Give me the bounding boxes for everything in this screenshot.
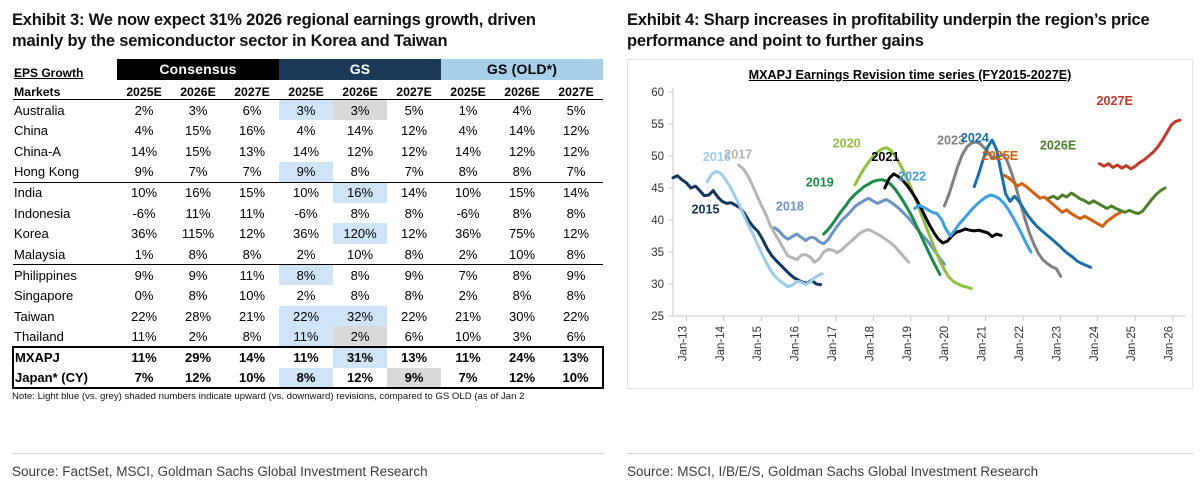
table-row: Malaysia1%8%8%2%10%8%2%10%8%: [13, 244, 603, 265]
table-row: India10%16%15%10%16%14%10%15%14%: [13, 182, 603, 203]
group-header-gs-old: GS (OLD*): [441, 59, 603, 80]
year-header-gs-2025e: 2025E: [279, 80, 333, 100]
row-market-label: Indonesia: [13, 203, 117, 224]
cell-gs_old-2025e: 36%: [441, 223, 495, 244]
row-market-label: Malaysia: [13, 244, 117, 265]
cell-gs_old-2027e: 8%: [549, 244, 603, 265]
cell-gs_old-2026e: 4%: [495, 100, 549, 121]
cell-consensus-2026e: 12%: [171, 368, 225, 389]
eps-growth-table: EPS GrowthConsensusGSGS (OLD*)Markets202…: [12, 59, 604, 389]
cell-consensus-2027e: 21%: [225, 306, 279, 327]
cell-consensus-2025e: 36%: [117, 223, 171, 244]
cell-consensus-2025e: 22%: [117, 306, 171, 327]
cell-gs-2026e: 12%: [333, 368, 387, 389]
cell-gs_old-2026e: 12%: [495, 141, 549, 162]
cell-consensus-2026e: 115%: [171, 223, 225, 244]
series-line-2025E: [1004, 175, 1120, 226]
earnings-revision-chart: MXAPJ Earnings Revision time series (FY2…: [627, 59, 1193, 389]
x-tick-label: Jan-26: [1164, 326, 1176, 361]
series-label-2027E: 2027E: [1097, 94, 1133, 108]
cell-gs_old-2026e: 8%: [495, 162, 549, 183]
cell-consensus-2025e: 2%: [117, 100, 171, 121]
table-group-header-row: EPS GrowthConsensusGSGS (OLD*): [13, 59, 603, 80]
y-tick-label: 60: [651, 87, 664, 99]
cell-consensus-2027e: 11%: [225, 265, 279, 286]
cell-consensus-2026e: 29%: [171, 347, 225, 368]
right-source-wrapper: Source: MSCI, I/B/E/S, Goldman Sachs Glo…: [627, 441, 1193, 479]
cell-gs-2025e: 22%: [279, 306, 333, 327]
cell-gs-2025e: 8%: [279, 265, 333, 286]
table-row: Korea36%115%12%36%120%12%36%75%12%: [13, 223, 603, 244]
cell-consensus-2027e: 6%: [225, 100, 279, 121]
cell-gs_old-2027e: 8%: [549, 203, 603, 224]
row-market-label: Japan* (CY): [13, 368, 117, 389]
cell-gs_old-2026e: 10%: [495, 244, 549, 265]
cell-gs-2025e: 3%: [279, 100, 333, 121]
cell-consensus-2027e: 10%: [225, 368, 279, 389]
cell-gs-2027e: 12%: [387, 141, 441, 162]
table-year-header-row: Markets2025E2026E2027E2025E2026E2027E202…: [13, 80, 603, 100]
series-line-2015: [673, 176, 821, 285]
exhibit-page: Exhibit 3: We now expect 31% 2026 region…: [0, 0, 1200, 493]
series-label-2026E: 2026E: [1040, 138, 1076, 152]
cell-gs-2026e: 8%: [333, 265, 387, 286]
table-row: Philippines9%9%11%8%8%9%7%8%9%: [13, 265, 603, 286]
year-header-gs_old-2025e: 2025E: [441, 80, 495, 100]
x-tick-label: Jan-25: [1126, 326, 1138, 361]
cell-gs-2026e: 14%: [333, 120, 387, 141]
table-row: Hong Kong9%7%7%9%8%7%8%8%7%: [13, 162, 603, 183]
cell-gs-2027e: 22%: [387, 306, 441, 327]
row-market-label: Singapore: [13, 285, 117, 306]
year-header-consensus-2025e: 2025E: [117, 80, 171, 100]
cell-consensus-2026e: 15%: [171, 120, 225, 141]
cell-consensus-2027e: 11%: [225, 203, 279, 224]
table-note: Note: Light blue (vs. grey) shaded numbe…: [12, 391, 612, 402]
cell-gs_old-2025e: 1%: [441, 100, 495, 121]
cell-gs_old-2027e: 12%: [549, 223, 603, 244]
cell-consensus-2026e: 11%: [171, 203, 225, 224]
cell-consensus-2025e: 14%: [117, 141, 171, 162]
cell-gs_old-2026e: 24%: [495, 347, 549, 368]
year-header-gs_old-2027e: 2027E: [549, 80, 603, 100]
cell-gs-2026e: 12%: [333, 141, 387, 162]
row-market-label: China: [13, 120, 117, 141]
cell-consensus-2027e: 15%: [225, 182, 279, 203]
cell-gs-2025e: -6%: [279, 203, 333, 224]
cell-gs_old-2026e: 8%: [495, 265, 549, 286]
y-tick-label: 50: [651, 151, 664, 163]
series-label-2025E: 2025E: [982, 149, 1018, 163]
cell-gs-2025e: 8%: [279, 368, 333, 389]
row-market-label: Thailand: [13, 326, 117, 347]
cell-consensus-2025e: 1%: [117, 244, 171, 265]
row-market-label: Hong Kong: [13, 162, 117, 183]
left-source-text: Source: FactSet, MSCI, Goldman Sachs Glo…: [12, 454, 604, 479]
row-market-label: Philippines: [13, 265, 117, 286]
exhibit-4-panel: Exhibit 4: Sharp increases in profitabil…: [615, 0, 1200, 493]
cell-gs-2025e: 11%: [279, 347, 333, 368]
cell-consensus-2025e: 0%: [117, 285, 171, 306]
cell-gs_old-2025e: 8%: [441, 162, 495, 183]
series-label-2015: 2015: [691, 202, 719, 216]
cell-gs_old-2027e: 10%: [549, 368, 603, 389]
row-market-label: MXAPJ: [13, 347, 117, 368]
year-header-gs_old-2026e: 2026E: [495, 80, 549, 100]
cell-consensus-2026e: 8%: [171, 285, 225, 306]
year-header-gs-2027e: 2027E: [387, 80, 441, 100]
markets-column-header: Markets: [13, 80, 117, 100]
cell-gs_old-2025e: 10%: [441, 182, 495, 203]
cell-gs_old-2025e: 14%: [441, 141, 495, 162]
cell-gs-2026e: 10%: [333, 244, 387, 265]
x-tick-label: Jan-16: [790, 326, 802, 361]
cell-gs_old-2027e: 12%: [549, 120, 603, 141]
cell-gs-2027e: 6%: [387, 326, 441, 347]
x-tick-label: Jan-22: [1014, 326, 1026, 361]
cell-gs_old-2026e: 8%: [495, 285, 549, 306]
cell-consensus-2026e: 15%: [171, 141, 225, 162]
cell-gs-2027e: 12%: [387, 223, 441, 244]
cell-gs-2027e: 8%: [387, 285, 441, 306]
table-row: Australia2%3%6%3%3%5%1%4%5%: [13, 100, 603, 121]
cell-consensus-2027e: 7%: [225, 162, 279, 183]
row-market-label: China-A: [13, 141, 117, 162]
cell-gs_old-2025e: 2%: [441, 244, 495, 265]
group-header-consensus: Consensus: [117, 59, 279, 80]
cell-consensus-2026e: 2%: [171, 326, 225, 347]
right-source-text: Source: MSCI, I/B/E/S, Goldman Sachs Glo…: [627, 454, 1193, 479]
year-header-gs-2026e: 2026E: [333, 80, 387, 100]
cell-consensus-2027e: 14%: [225, 347, 279, 368]
cell-gs-2027e: 12%: [387, 120, 441, 141]
cell-gs-2025e: 2%: [279, 285, 333, 306]
cell-gs-2025e: 11%: [279, 326, 333, 347]
cell-consensus-2025e: 9%: [117, 265, 171, 286]
cell-gs_old-2026e: 3%: [495, 326, 549, 347]
exhibit-3-title: Exhibit 3: We now expect 31% 2026 region…: [12, 10, 572, 53]
cell-gs-2026e: 3%: [333, 100, 387, 121]
cell-gs-2027e: 7%: [387, 162, 441, 183]
row-market-label: Taiwan: [13, 306, 117, 327]
x-tick-label: Jan-23: [1051, 326, 1063, 361]
cell-gs-2027e: 8%: [387, 203, 441, 224]
x-tick-label: Jan-15: [752, 326, 764, 361]
cell-consensus-2027e: 13%: [225, 141, 279, 162]
cell-gs_old-2025e: 7%: [441, 368, 495, 389]
series-line-2019: [824, 180, 940, 275]
cell-gs-2026e: 32%: [333, 306, 387, 327]
y-tick-label: 45: [651, 183, 664, 195]
cell-gs-2025e: 10%: [279, 182, 333, 203]
cell-gs-2027e: 8%: [387, 244, 441, 265]
cell-consensus-2026e: 7%: [171, 162, 225, 183]
table-total-row: MXAPJ11%29%14%11%31%13%11%24%13%: [13, 347, 603, 368]
x-tick-label: Jan-14: [715, 325, 727, 361]
cell-gs_old-2027e: 13%: [549, 347, 603, 368]
cell-gs_old-2025e: 21%: [441, 306, 495, 327]
cell-gs-2027e: 14%: [387, 182, 441, 203]
series-label-2019: 2019: [806, 176, 834, 190]
left-source-wrapper: Source: FactSet, MSCI, Goldman Sachs Glo…: [12, 441, 604, 479]
eps-growth-corner-label: EPS Growth: [13, 59, 117, 80]
cell-gs_old-2027e: 7%: [549, 162, 603, 183]
cell-gs_old-2027e: 9%: [549, 265, 603, 286]
cell-consensus-2025e: 11%: [117, 326, 171, 347]
cell-gs_old-2027e: 6%: [549, 326, 603, 347]
table-row: Indonesia-6%11%11%-6%8%8%-6%8%8%: [13, 203, 603, 224]
cell-gs-2027e: 9%: [387, 265, 441, 286]
row-market-label: Korea: [13, 223, 117, 244]
exhibit-3-panel: Exhibit 3: We now expect 31% 2026 region…: [0, 0, 615, 493]
x-tick-label: Jan-18: [864, 326, 876, 361]
cell-gs-2026e: 31%: [333, 347, 387, 368]
x-tick-label: Jan-24: [1089, 325, 1101, 361]
cell-gs_old-2026e: 14%: [495, 120, 549, 141]
table-row: China4%15%16%4%14%12%4%14%12%: [13, 120, 603, 141]
cell-gs-2025e: 36%: [279, 223, 333, 244]
cell-gs_old-2026e: 8%: [495, 203, 549, 224]
chart-canvas: 2530354045505560Jan-13Jan-14Jan-15Jan-16…: [628, 60, 1194, 390]
y-tick-label: 35: [651, 247, 664, 259]
cell-gs-2026e: 16%: [333, 182, 387, 203]
row-market-label: India: [13, 182, 117, 203]
x-tick-label: Jan-17: [827, 326, 839, 361]
cell-gs_old-2026e: 75%: [495, 223, 549, 244]
x-tick-label: Jan-21: [977, 326, 989, 361]
row-market-label: Australia: [13, 100, 117, 121]
table-row: China-A14%15%13%14%12%12%14%12%12%: [13, 141, 603, 162]
series-label-2022: 2022: [898, 169, 926, 183]
series-label-2018: 2018: [776, 199, 804, 213]
cell-gs-2026e: 8%: [333, 203, 387, 224]
x-tick-label: Jan-13: [677, 326, 689, 361]
cell-gs-2027e: 5%: [387, 100, 441, 121]
cell-gs-2025e: 4%: [279, 120, 333, 141]
series-line-2021: [885, 174, 1001, 243]
cell-gs-2025e: 2%: [279, 244, 333, 265]
cell-consensus-2027e: 8%: [225, 326, 279, 347]
cell-gs_old-2025e: 4%: [441, 120, 495, 141]
table-row: Taiwan22%28%21%22%32%22%21%30%22%: [13, 306, 603, 327]
series-label-2020: 2020: [833, 137, 861, 151]
cell-gs-2026e: 8%: [333, 162, 387, 183]
cell-gs_old-2025e: 2%: [441, 285, 495, 306]
cell-gs_old-2027e: 12%: [549, 141, 603, 162]
y-tick-label: 25: [651, 311, 664, 323]
cell-consensus-2027e: 10%: [225, 285, 279, 306]
cell-gs_old-2025e: -6%: [441, 203, 495, 224]
cell-gs_old-2025e: 11%: [441, 347, 495, 368]
cell-gs-2025e: 14%: [279, 141, 333, 162]
y-tick-label: 30: [651, 279, 664, 291]
cell-consensus-2026e: 9%: [171, 265, 225, 286]
cell-gs-2026e: 2%: [333, 326, 387, 347]
cell-consensus-2025e: -6%: [117, 203, 171, 224]
cell-consensus-2026e: 16%: [171, 182, 225, 203]
cell-consensus-2025e: 9%: [117, 162, 171, 183]
x-tick-label: Jan-19: [902, 326, 914, 361]
cell-consensus-2026e: 3%: [171, 100, 225, 121]
series-label-2021: 2021: [871, 150, 899, 164]
cell-gs_old-2027e: 22%: [549, 306, 603, 327]
cell-gs_old-2025e: 10%: [441, 326, 495, 347]
cell-consensus-2027e: 12%: [225, 223, 279, 244]
year-header-consensus-2026e: 2026E: [171, 80, 225, 100]
cell-gs-2025e: 9%: [279, 162, 333, 183]
cell-gs-2027e: 9%: [387, 368, 441, 389]
table-total-row: Japan* (CY)7%12%10%8%12%9%7%12%10%: [13, 368, 603, 389]
table-row: Thailand11%2%8%11%2%6%10%3%6%: [13, 326, 603, 347]
exhibit-4-title: Exhibit 4: Sharp increases in profitabil…: [627, 10, 1187, 53]
series-label-2024: 2024: [961, 131, 989, 145]
cell-gs_old-2026e: 15%: [495, 182, 549, 203]
cell-consensus-2025e: 10%: [117, 182, 171, 203]
cell-gs-2027e: 13%: [387, 347, 441, 368]
cell-gs_old-2027e: 5%: [549, 100, 603, 121]
cell-gs_old-2027e: 8%: [549, 285, 603, 306]
year-header-consensus-2027e: 2027E: [225, 80, 279, 100]
cell-consensus-2026e: 8%: [171, 244, 225, 265]
group-header-gs: GS: [279, 59, 441, 80]
x-tick-label: Jan-20: [939, 326, 951, 361]
cell-consensus-2025e: 7%: [117, 368, 171, 389]
cell-gs-2026e: 8%: [333, 285, 387, 306]
cell-gs-2026e: 120%: [333, 223, 387, 244]
cell-gs_old-2026e: 12%: [495, 368, 549, 389]
table-row: Singapore0%8%10%2%8%8%2%8%8%: [13, 285, 603, 306]
y-tick-label: 55: [651, 119, 664, 131]
cell-gs_old-2027e: 14%: [549, 182, 603, 203]
series-label-2017: 2017: [724, 147, 752, 161]
cell-consensus-2027e: 16%: [225, 120, 279, 141]
eps-growth-table-wrapper: EPS GrowthConsensusGSGS (OLD*)Markets202…: [12, 59, 607, 389]
y-tick-label: 40: [651, 215, 664, 227]
cell-consensus-2026e: 28%: [171, 306, 225, 327]
cell-consensus-2025e: 4%: [117, 120, 171, 141]
cell-consensus-2027e: 8%: [225, 244, 279, 265]
series-line-2027E: [1100, 120, 1181, 169]
cell-gs_old-2025e: 7%: [441, 265, 495, 286]
cell-gs_old-2026e: 30%: [495, 306, 549, 327]
cell-consensus-2025e: 11%: [117, 347, 171, 368]
